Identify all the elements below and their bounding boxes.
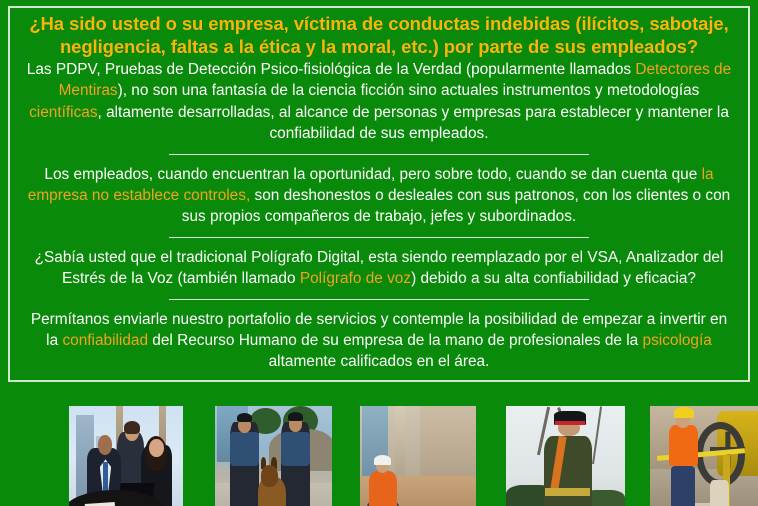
highlighted-phrase: psicología: [643, 332, 712, 349]
photo-site-machinery: [650, 406, 758, 506]
paragraph-text-run-2: son deshonestos o desleales con sus patr…: [182, 187, 730, 225]
divider-3-wrap: [20, 290, 738, 309]
headline: ¿Ha sido usted o su empresa, víctima de …: [20, 12, 738, 58]
divider-3: [169, 299, 589, 300]
paragraph-portafolio: Permítanos enviarle nuestro portafolio d…: [20, 309, 738, 373]
paragraph-text-run-0: Las PDPV, Pruebas de Detección Psico-fis…: [27, 61, 636, 78]
paragraph-vsa: ¿Sabía usted que el tradicional Polígraf…: [20, 247, 738, 290]
paragraph-text-run-4: , altamente desarrolladas, al alcance de…: [98, 104, 729, 142]
promo-poster: ¿Ha sido usted o su empresa, víctima de …: [0, 0, 758, 506]
paragraph-text-run-2: ), no son una fantasía de la ciencia fic…: [118, 82, 700, 99]
divider-2-wrap: [20, 228, 738, 247]
paragraph-text-run-0: Los empleados, cuando encuentran la opor…: [44, 166, 701, 183]
text-panel: ¿Ha sido usted o su empresa, víctima de …: [8, 6, 750, 382]
divider-2: [169, 237, 589, 238]
headline-line-1: ¿Ha sido usted o su empresa, víctima de …: [29, 13, 728, 34]
paragraph-empleados: Los empleados, cuando encuentran la opor…: [20, 164, 738, 228]
highlighted-phrase: científicas: [29, 104, 97, 121]
photo-office-meeting: [69, 406, 183, 506]
paragraph-text-run-2: ) debido a su alta confiabilidad y efica…: [411, 270, 696, 287]
highlighted-phrase: Polígrafo de voz: [300, 270, 411, 287]
paragraph-pdpv: Las PDPV, Pruebas de Detección Psico-fis…: [20, 59, 738, 145]
highlighted-phrase: confiabilidad: [62, 332, 148, 349]
paragraph-text-run-2: del Recurso Humano de su empresa de la m…: [148, 332, 643, 349]
divider-1-wrap: [20, 145, 738, 164]
paragraph-text-run-4: altamente calificados en el área.: [269, 353, 490, 370]
headline-line-2: negligencia, faltas a la ética y la mora…: [60, 36, 698, 57]
photo-construction-worker: [360, 406, 476, 506]
photo-uniformed-guard: [506, 406, 625, 506]
photo-police-k9: [215, 406, 332, 506]
divider-1: [169, 154, 589, 155]
photo-strip: [0, 390, 758, 506]
